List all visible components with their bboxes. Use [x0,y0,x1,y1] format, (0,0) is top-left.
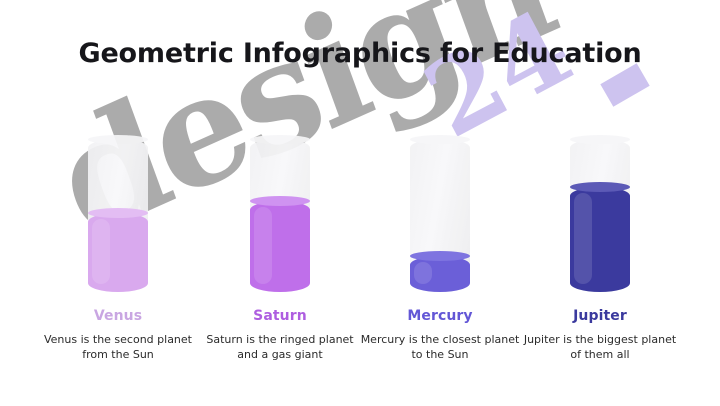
cylinder-fill [250,201,310,292]
cylinder-venus[interactable] [88,139,148,292]
planet-name-venus: Venus [28,308,208,324]
cylinder-fill-sheen [254,207,272,284]
cylinder-tube-cap [570,135,630,144]
planet-name-mercury: Mercury [350,308,530,324]
planet-description-jupiter: Jupiter is the biggest planet of them al… [510,333,690,363]
cylinder-fill-sheen [92,219,110,284]
cylinder-tube-cap [88,135,148,144]
cylinder-fill-top [410,251,470,261]
chart-column-saturn[interactable]: Saturn Saturn is the ringed planet and a… [190,130,370,363]
planet-description-venus: Venus is the second planet from the Sun [28,333,208,363]
cylinder-fill-sheen [414,262,432,284]
cylinder-fill-top [88,208,148,218]
planet-name-saturn: Saturn [190,308,370,324]
cylinder-fill-sheen [574,193,592,284]
planet-description-mercury: Mercury is the closest planet to the Sun [350,333,530,363]
page-title: Geometric Infographics for Education [0,38,720,69]
cylinder-fill-top [570,182,630,192]
cylinder-fill [88,213,148,292]
chart-column-venus[interactable]: Venus Venus is the second planet from th… [28,130,208,363]
cylinder-mercury[interactable] [410,139,470,292]
slide-canvas: design 24 Geometric Infographics for Edu… [0,0,720,406]
cylinder-saturn[interactable] [250,139,310,292]
chart-column-jupiter[interactable]: Jupiter Jupiter is the biggest planet of… [510,130,690,363]
cylinder-fill [570,187,630,292]
cylinder-tube-cap [410,135,470,144]
cylinder-jupiter[interactable] [570,139,630,292]
planet-name-jupiter: Jupiter [510,308,690,324]
planet-description-saturn: Saturn is the ringed planet and a gas gi… [190,333,370,363]
cylinder-fill [410,256,470,292]
cylinder-fill-top [250,196,310,206]
cylinder-tube-cap [250,135,310,144]
chart-column-mercury[interactable]: Mercury Mercury is the closest planet to… [350,130,530,363]
